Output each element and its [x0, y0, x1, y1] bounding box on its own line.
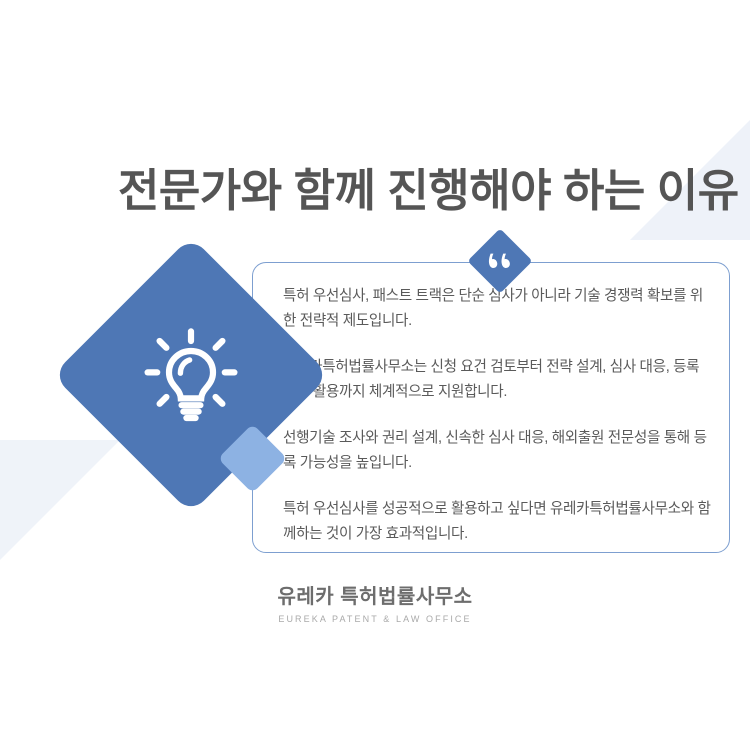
page-title: 전문가와 함께 진행해야 하는 이유 — [118, 164, 739, 217]
footer-logo-name-ko: 유레카 특허법률사무소 — [0, 585, 750, 609]
footer-logo-name-en: EUREKA PATENT & LAW OFFICE — [0, 614, 750, 625]
footer-logo: 유레카 특허법률사무소 EUREKA PATENT & LAW OFFICE — [0, 585, 750, 625]
quote-marks-icon — [488, 253, 512, 269]
card-paragraph: 특허 우선심사를 성공적으로 활용하고 싶다면 유레카특허법률사무소와 함께하는… — [283, 497, 711, 547]
slide-canvas: 전문가와 함께 진행해야 하는 이유 특허 우선심사, 패스트 트랙은 단순 심… — [0, 0, 750, 750]
card-paragraph: 선행기술 조사와 권리 설계, 신속한 심사 대응, 해외출원 전문성을 통해 … — [283, 426, 711, 476]
content-card: 특허 우선심사, 패스트 트랙은 단순 심사가 아니라 기술 경쟁력 확보를 위… — [252, 262, 730, 553]
card-paragraph-list: 특허 우선심사, 패스트 트랙은 단순 심사가 아니라 기술 경쟁력 확보를 위… — [283, 284, 711, 547]
card-paragraph: 유레카특허법률사무소는 신청 요건 검토부터 전략 설계, 심사 대응, 등록 … — [283, 355, 711, 405]
